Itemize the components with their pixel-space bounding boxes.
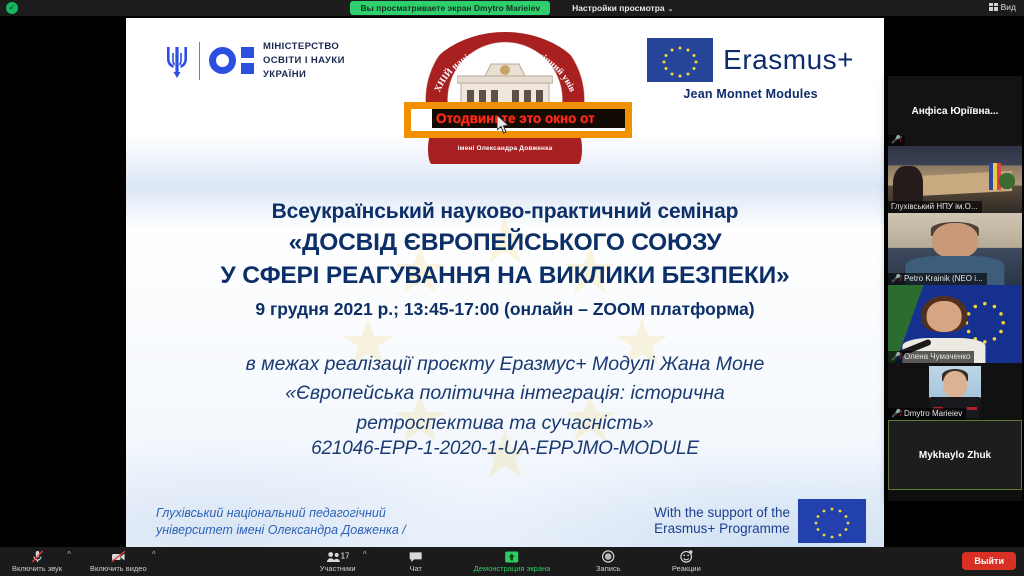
slide-footer-support: With the support of the Erasmus+ Program… (654, 499, 866, 543)
record-button[interactable]: Запись (582, 547, 634, 576)
footer-left-line-2: університет імені Олександра Довженка / (156, 522, 406, 539)
erasmus-wordmark: Erasmus+ (723, 44, 854, 76)
chevron-up-icon[interactable]: ^ (67, 550, 71, 559)
participant-tile[interactable]: 🎤̸ Олена Чумаченко (888, 285, 1022, 363)
microphone-muted-icon: 🎤̸ (891, 275, 901, 283)
slide-logo-row: МІНІСТЕРСТВО ОСВІТИ І НАУКИ УКРАЇНИ ХНІЙ… (126, 18, 884, 178)
participant-name-center: Mykhaylo Zhuk (889, 421, 1021, 489)
record-icon (602, 550, 615, 563)
meeting-toolbar: Включить звук ^ Включить видео ^ (0, 547, 1024, 576)
slide-title-block: Всеукраїнський науково-практичний семіна… (126, 200, 884, 320)
share-screen-icon (505, 550, 519, 563)
chevron-down-icon: ⌄ (668, 6, 674, 13)
record-label: Запись (596, 564, 621, 573)
zoom-meeting-window: ✓ Вы просматриваете экран Dmytro Marieie… (0, 0, 1024, 576)
participant-name-bar: 🎤̸ Dmytro Marieiev (888, 408, 966, 420)
participant-tile[interactable]: 🎤̸ Petro Krainik (NEO i... (888, 213, 1022, 285)
camera-muted-icon (111, 550, 126, 563)
footer-left-line-1: Глухівський національний педагогічний (156, 505, 406, 522)
footer-right-line-2: Erasmus+ Programme (654, 521, 790, 537)
ministry-line-1: МІНІСТЕРСТВО (263, 40, 345, 54)
slide-title-line-3: У СФЕРІ РЕАГУВАННЯ НА ВИКЛИКИ БЕЗПЕКИ» (126, 262, 884, 290)
security-shield-icon[interactable]: ✓ (6, 2, 18, 14)
slide-title-line-2: «ДОСВІД ЄВРОПЕЙСЬКОГО СОЮЗУ (126, 229, 884, 257)
shared-screen-stage: МІНІСТЕРСТВО ОСВІТИ І НАУКИ УКРАЇНИ ХНІЙ… (0, 16, 1024, 547)
microphone-muted-icon: 🎤̸ (891, 353, 901, 361)
ministry-logo-text: МІНІСТЕРСТВО ОСВІТИ І НАУКИ УКРАЇНИ (263, 40, 345, 81)
slide-footer-university: Глухівський національний педагогічний ун… (156, 505, 406, 539)
footer-right-line-1: With the support of the (654, 505, 790, 521)
microphone-muted-icon (31, 550, 44, 563)
chevron-up-icon[interactable]: ^ (152, 550, 156, 559)
svg-text:17: 17 (341, 552, 349, 561)
move-window-notice-text: Отодвиньте это окно от (432, 111, 595, 126)
slide-subtitle-line-1: в межах реалізації проєкту Еразмус+ Моду… (126, 350, 884, 379)
participant-tile[interactable]: 🎤̸ Dmytro Marieiev (888, 363, 1022, 420)
reactions-label: Реакции (672, 564, 701, 573)
chat-button[interactable]: Чат (390, 547, 442, 576)
microphone-muted-icon: 🎤̸ (891, 136, 901, 144)
participant-name-label: Petro Krainik (NEO i... (904, 274, 983, 283)
ministry-of-education-logo: МІНІСТЕРСТВО ОСВІТИ І НАУКИ УКРАЇНИ (164, 40, 345, 81)
view-options-button[interactable]: Настройки просмотра⌄ (572, 3, 673, 13)
sharing-status-banner: Вы просматриваете экран Dmytro Marieiev (350, 1, 550, 15)
participant-name-label: Глухівський НПУ ім.О... (891, 202, 978, 211)
participant-tile[interactable]: Анфіса Юріївна... 🎤̸ (888, 76, 1022, 146)
view-button-label: Вид (1001, 2, 1016, 12)
participant-name-label: Dmytro Marieiev (904, 409, 962, 418)
start-video-label: Включить видео (90, 564, 147, 573)
slide-subtitle-line-2: «Європейська політична інтеграція: істор… (126, 379, 884, 408)
eu-flag-icon (647, 38, 713, 82)
move-window-notice: Отодвиньте это окно от (404, 102, 632, 138)
participant-tile-active[interactable]: Mykhaylo Zhuk (888, 420, 1022, 490)
crest-ribbon-label: імені Олександра Довженка (428, 134, 582, 164)
chevron-up-icon[interactable]: ^ (363, 550, 367, 559)
view-options-label: Настройки просмотра (572, 3, 665, 13)
participant-name-bar: 🎤̸ (888, 135, 905, 146)
view-layout-button[interactable]: Вид (989, 2, 1016, 12)
unmute-audio-label: Включить звук (12, 564, 62, 573)
slide-subtitle-block: в межах реалізації проєкту Еразмус+ Моду… (126, 350, 884, 460)
chat-bubble-icon (409, 550, 423, 563)
chat-label: Чат (409, 564, 421, 573)
reactions-button[interactable]: Реакции (660, 547, 712, 576)
leave-meeting-button[interactable]: Выйти (962, 552, 1016, 570)
participant-filmstrip[interactable]: Анфіса Юріївна... 🎤̸ Глухівський НПУ ім.… (888, 76, 1022, 501)
unmute-audio-button[interactable]: Включить звук ^ (6, 547, 68, 576)
erasmus-plus-logo: Erasmus+ Jean Monnet Modules (647, 38, 854, 101)
ministry-line-2: ОСВІТИ І НАУКИ (263, 54, 345, 68)
start-video-button[interactable]: Включить видео ^ (84, 547, 153, 576)
crest-ribbon: імені Олександра Довженка (428, 134, 582, 164)
mon-circle-bars-icon (209, 47, 254, 74)
participant-name-label: Олена Чумаченко (904, 352, 970, 361)
participant-name-bar: 🎤̸ Олена Чумаченко (888, 351, 974, 363)
participant-name-center: Анфіса Юріївна... (888, 76, 1022, 146)
eu-flag-icon (798, 499, 866, 543)
slide-subtitle-line-3: ретроспектива та сучасність» (126, 409, 884, 438)
mouse-pointer-icon (497, 115, 510, 134)
share-screen-button[interactable]: Демонстрация экрана (468, 547, 557, 576)
presentation-slide: МІНІСТЕРСТВО ОСВІТИ І НАУКИ УКРАЇНИ ХНІЙ… (126, 18, 884, 547)
slide-title-date: 9 грудня 2021 р.; 13:45-17:00 (онлайн – … (126, 299, 884, 320)
share-screen-label: Демонстрация экрана (474, 564, 551, 573)
erasmus-subtitle: Jean Monnet Modules (647, 87, 854, 101)
ministry-line-3: УКРАЇНИ (263, 68, 345, 82)
reactions-icon (680, 550, 693, 563)
microphone-muted-icon: 🎤̸ (891, 410, 901, 418)
participants-button[interactable]: 17 Участники ^ (312, 547, 364, 576)
participant-tile[interactable]: Глухівський НПУ ім.О... (888, 146, 1022, 213)
screen-share-top-bar: ✓ Вы просматриваете экран Dmytro Marieie… (0, 0, 1024, 16)
grid-view-icon (989, 3, 998, 11)
participant-name-bar: Глухівський НПУ ім.О... (888, 201, 982, 213)
slide-title-line-1: Всеукраїнський науково-практичний семіна… (126, 200, 884, 224)
slide-project-code: 621046-EPP-1-2020-1-UA-EPPJMO-MODULE (126, 438, 884, 460)
logo-divider (199, 42, 200, 80)
participant-name-bar: 🎤̸ Petro Krainik (NEO i... (888, 273, 987, 285)
participants-icon: 17 (327, 550, 349, 563)
participants-label: Участники (320, 564, 356, 573)
ukraine-trident-icon (164, 43, 190, 79)
